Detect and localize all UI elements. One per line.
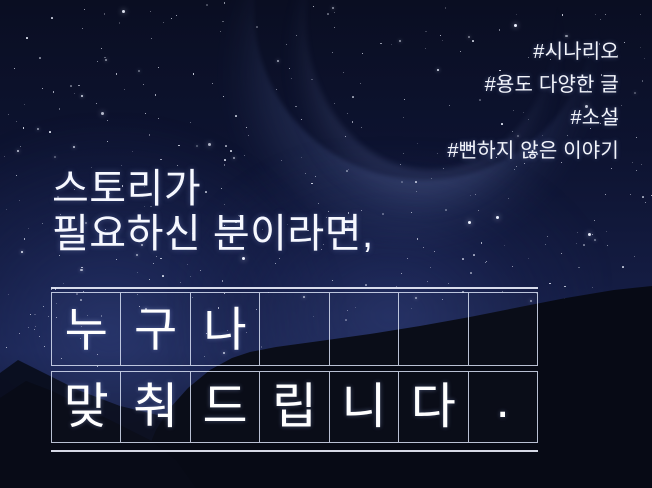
headline-line-2: 필요하신 분이라면, bbox=[52, 212, 374, 257]
hashtag-item-3: #소설 bbox=[447, 102, 619, 135]
grid-cell: 춰 bbox=[121, 372, 190, 442]
grid-rule-top bbox=[51, 287, 538, 289]
manuscript-grid: 누 구 나 맞 춰 드 립 니 다 . bbox=[51, 292, 538, 443]
headline-line-1: 스토리가 bbox=[52, 167, 374, 212]
grid-rule-bottom bbox=[51, 450, 538, 452]
grid-cell: 니 bbox=[330, 372, 399, 442]
manuscript-row-2: 맞 춰 드 립 니 다 . bbox=[51, 371, 538, 443]
promo-banner: #시나리오 #용도 다양한 글 #소설 #뻔하지 않은 이야기 스토리가 필요하… bbox=[0, 0, 652, 488]
grid-cell: 다 bbox=[399, 372, 468, 442]
manuscript-row-1: 누 구 나 bbox=[51, 292, 538, 366]
grid-cell: 누 bbox=[52, 293, 121, 365]
headline: 스토리가 필요하신 분이라면, bbox=[52, 167, 374, 257]
grid-cell bbox=[399, 293, 468, 365]
grid-cell: 맞 bbox=[52, 372, 121, 442]
grid-cell: . bbox=[469, 372, 537, 442]
grid-cell: 구 bbox=[121, 293, 190, 365]
grid-cell bbox=[469, 293, 537, 365]
hashtag-list: #시나리오 #용도 다양한 글 #소설 #뻔하지 않은 이야기 bbox=[447, 36, 619, 168]
hashtag-item-4: #뻔하지 않은 이야기 bbox=[447, 135, 619, 168]
grid-cell: 립 bbox=[260, 372, 329, 442]
hashtag-item-2: #용도 다양한 글 bbox=[447, 69, 619, 102]
grid-cell: 드 bbox=[191, 372, 260, 442]
grid-cell bbox=[260, 293, 329, 365]
grid-cell bbox=[330, 293, 399, 365]
hashtag-item-1: #시나리오 bbox=[447, 36, 619, 69]
grid-cell: 나 bbox=[191, 293, 260, 365]
